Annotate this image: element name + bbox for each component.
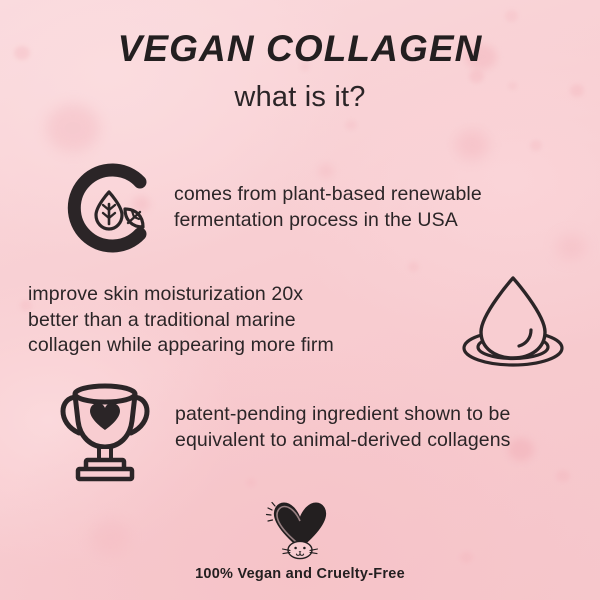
benefit-line: patent-pending ingredient shown to be xyxy=(175,402,511,428)
benefit-row-1: comes from plant-based renewable ferment… xyxy=(56,160,482,256)
header-block: VEGAN COLLAGEN what is it? xyxy=(0,30,600,114)
infographic-poster: VEGAN COLLAGEN what is it? xyxy=(0,0,600,600)
cruelty-free-bunny-heart-icon xyxy=(257,498,343,560)
collagen-c-plant-drop-icon xyxy=(56,160,160,256)
background-blotch xyxy=(455,130,489,160)
trophy-heart-icon xyxy=(45,375,165,480)
benefit-line: fermentation process in the USA xyxy=(174,208,482,234)
benefit-line: comes from plant-based renewable xyxy=(174,182,482,208)
page-subtitle: what is it? xyxy=(0,81,600,114)
background-blotch xyxy=(508,438,534,461)
benefit-line: collagen while appearing more firm xyxy=(28,333,334,359)
benefit-text-3: patent-pending ingredient shown to be eq… xyxy=(175,402,511,453)
page-title: VEGAN COLLAGEN xyxy=(0,30,600,69)
benefit-line: equivalent to animal-derived collagens xyxy=(175,428,511,454)
benefit-line: better than a traditional marine xyxy=(28,308,334,334)
background-blotch xyxy=(556,234,586,260)
background-blotch xyxy=(505,10,518,22)
benefit-text-2: improve skin moisturization 20x better t… xyxy=(28,282,334,359)
background-blotch xyxy=(530,140,542,151)
water-droplet-ripple-icon xyxy=(453,268,573,373)
footer-text: 100% Vegan and Cruelty-Free xyxy=(0,566,600,582)
benefit-row-3: patent-pending ingredient shown to be eq… xyxy=(45,375,511,480)
footer-block: 100% Vegan and Cruelty-Free xyxy=(0,498,600,582)
benefit-text-1: comes from plant-based renewable ferment… xyxy=(174,182,482,233)
benefit-line: improve skin moisturization 20x xyxy=(28,282,334,308)
benefit-row-2: improve skin moisturization 20x better t… xyxy=(28,268,573,373)
background-blotch xyxy=(345,120,357,130)
background-blotch xyxy=(556,470,570,482)
